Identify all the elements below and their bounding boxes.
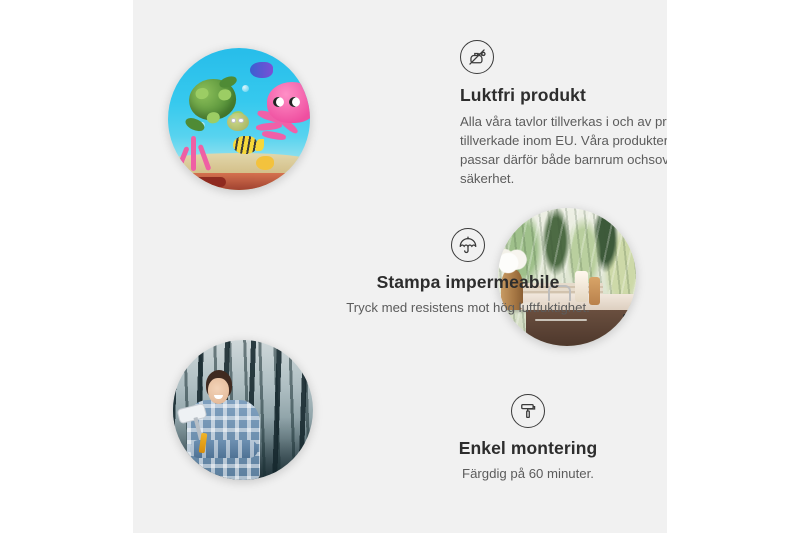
feature-panel: Luktfri produkt Alla våra tavlor tillver… <box>133 0 667 533</box>
feature-description: Tryck med resistens mot hög luftfuktighe… <box>333 298 603 317</box>
paint-roller-icon <box>511 394 545 428</box>
feature-image-underwater-kids-scene <box>168 48 310 190</box>
feature-description: Alla våra tavlor tillverkas i och av pro… <box>460 112 667 189</box>
feature-block-waterproof: Stampa impermeabile Tryck med resistens … <box>333 228 603 317</box>
feature-title: Stampa impermeabile <box>333 272 603 293</box>
feature-block-odourless: Luktfri produkt Alla våra tavlor tillver… <box>460 40 667 189</box>
screenshot-root: Luktfri produkt Alla våra tavlor tillver… <box>0 0 800 533</box>
feature-block-easy-mount: Enkel montering Färgdig på 60 minuter. <box>423 394 633 483</box>
feature-title: Enkel montering <box>423 438 633 459</box>
feature-title: Luktfri produkt <box>460 85 667 106</box>
feature-description: Färgdig på 60 minuter. <box>423 464 633 483</box>
feature-image-woman-forest-wallpaper <box>173 340 313 480</box>
umbrella-icon <box>451 228 485 262</box>
no-fragrance-icon <box>460 40 494 74</box>
